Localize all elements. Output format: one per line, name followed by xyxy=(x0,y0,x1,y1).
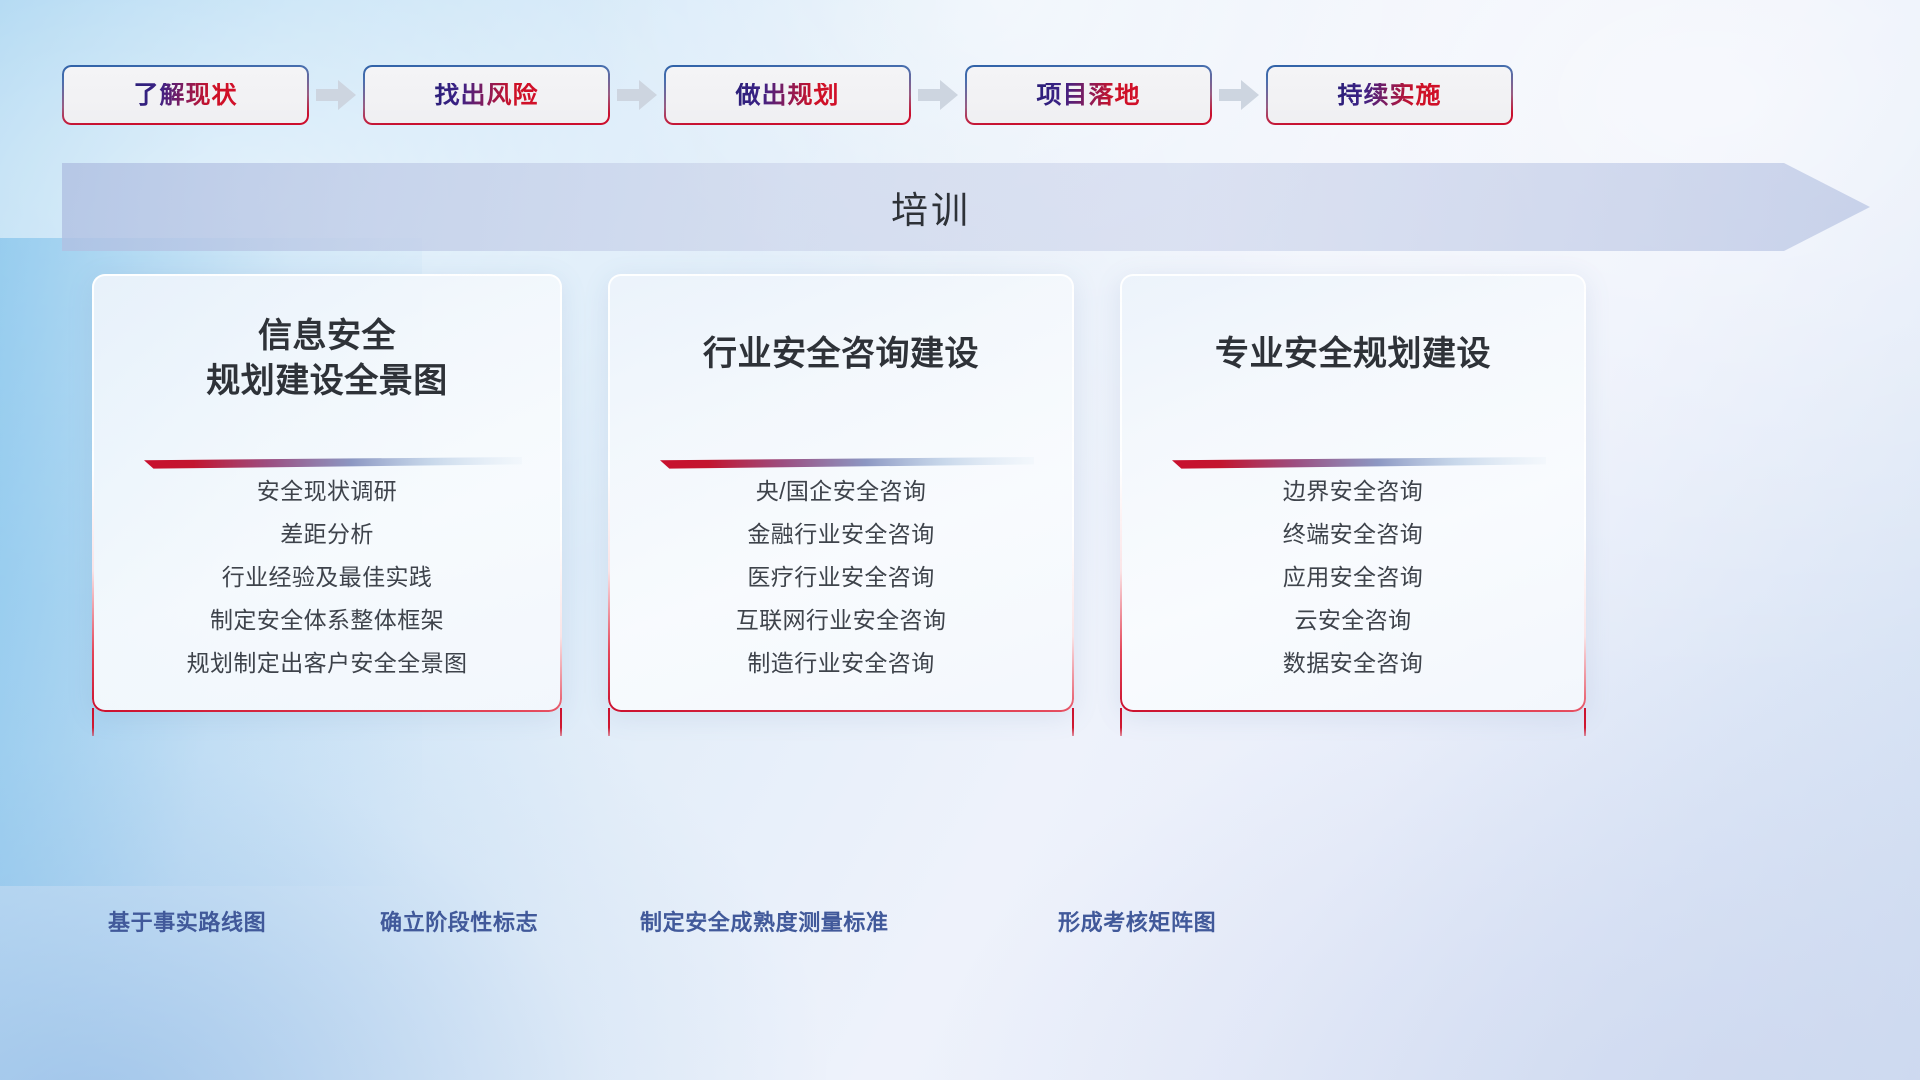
card-title: 信息安全 规划建设全景图 xyxy=(206,314,448,404)
step-box-5[interactable]: 持续实施 xyxy=(1266,65,1513,125)
card-accent-stem-left xyxy=(92,708,94,736)
list-item: 差距分析 xyxy=(280,514,374,555)
card-row: 信息安全 规划建设全景图 xyxy=(92,274,1592,712)
card-divider xyxy=(144,457,522,470)
card-professional-security-planning[interactable]: 专业安全规划建设 xyxy=(1120,274,1586,712)
list-item: 规划制定出客户安全全景图 xyxy=(187,643,468,684)
footer-label-roadmap: 基于事实路线图 xyxy=(108,905,266,937)
list-item: 数据安全咨询 xyxy=(1283,643,1423,684)
step-box-2[interactable]: 找出风险 xyxy=(363,65,610,125)
card-divider xyxy=(1172,457,1546,470)
step-label: 项目落地 xyxy=(1036,83,1140,108)
card-item-list: 边界安全咨询 终端安全咨询 应用安全咨询 云安全咨询 数据安全咨询 xyxy=(1146,471,1560,684)
card-divider xyxy=(660,457,1034,470)
step-box-1[interactable]: 了解现状 xyxy=(62,65,309,125)
footer-label-maturity: 制定安全成熟度测量标准 xyxy=(640,905,889,937)
card-accent-stem-left xyxy=(1120,708,1122,736)
list-item: 安全现状调研 xyxy=(257,471,397,512)
arrow-right-icon xyxy=(309,65,363,125)
arrow-right-icon xyxy=(610,65,664,125)
list-item: 边界安全咨询 xyxy=(1283,471,1423,512)
card-accent-stem-right xyxy=(1584,708,1586,736)
card-accent-stem-right xyxy=(560,708,562,736)
card-information-security-panorama[interactable]: 信息安全 规划建设全景图 xyxy=(92,274,562,712)
banner-title: 培训 xyxy=(62,163,1870,251)
card-divider-wrap xyxy=(634,457,1048,471)
card-title: 行业安全咨询建设 xyxy=(703,332,979,377)
card-title-line: 行业安全咨询建设 xyxy=(703,332,979,377)
list-item: 制定安全体系整体框架 xyxy=(210,600,444,641)
footer-label-matrix: 形成考核矩阵图 xyxy=(1058,905,1216,937)
card-title-line: 专业安全规划建设 xyxy=(1215,332,1491,377)
training-banner: 培训 xyxy=(62,163,1870,251)
step-label: 了解现状 xyxy=(133,83,237,108)
card-accent-stem-right xyxy=(1072,708,1074,736)
card-divider-wrap xyxy=(118,457,536,471)
card-title-line: 信息安全 xyxy=(206,314,448,359)
card-item-list: 央/国企安全咨询 金融行业安全咨询 医疗行业安全咨询 互联网行业安全咨询 制造行… xyxy=(634,471,1048,684)
step-label: 做出规划 xyxy=(735,83,839,108)
step-label: 找出风险 xyxy=(434,83,538,108)
footer-label-row: 基于事实路线图 确立阶段性标志 制定安全成熟度测量标准 形成考核矩阵图 xyxy=(0,905,1920,951)
list-item: 终端安全咨询 xyxy=(1283,514,1423,555)
arrow-right-icon xyxy=(911,65,965,125)
card-divider-wrap xyxy=(1146,457,1560,471)
card-title-line: 规划建设全景图 xyxy=(206,359,448,404)
list-item: 行业经验及最佳实践 xyxy=(222,557,433,598)
card-title: 专业安全规划建设 xyxy=(1215,332,1491,377)
list-item: 医疗行业安全咨询 xyxy=(747,557,934,598)
list-item: 央/国企安全咨询 xyxy=(756,471,927,512)
list-item: 应用安全咨询 xyxy=(1283,557,1423,598)
process-step-row: 了解现状 找出风险 做出规划 项目落地 持续实施 xyxy=(62,64,1862,126)
card-item-list: 安全现状调研 差距分析 行业经验及最佳实践 制定安全体系整体框架 规划制定出客户… xyxy=(118,471,536,684)
step-box-4[interactable]: 项目落地 xyxy=(965,65,1212,125)
step-label: 持续实施 xyxy=(1337,83,1441,108)
list-item: 云安全咨询 xyxy=(1295,600,1412,641)
footer-label-milestone: 确立阶段性标志 xyxy=(380,905,538,937)
step-box-3[interactable]: 做出规划 xyxy=(664,65,911,125)
arrow-right-icon xyxy=(1212,65,1266,125)
card-industry-security-consulting[interactable]: 行业安全咨询建设 xyxy=(608,274,1074,712)
card-accent-stem-left xyxy=(608,708,610,736)
list-item: 制造行业安全咨询 xyxy=(747,643,934,684)
list-item: 互联网行业安全咨询 xyxy=(736,600,947,641)
list-item: 金融行业安全咨询 xyxy=(747,514,934,555)
